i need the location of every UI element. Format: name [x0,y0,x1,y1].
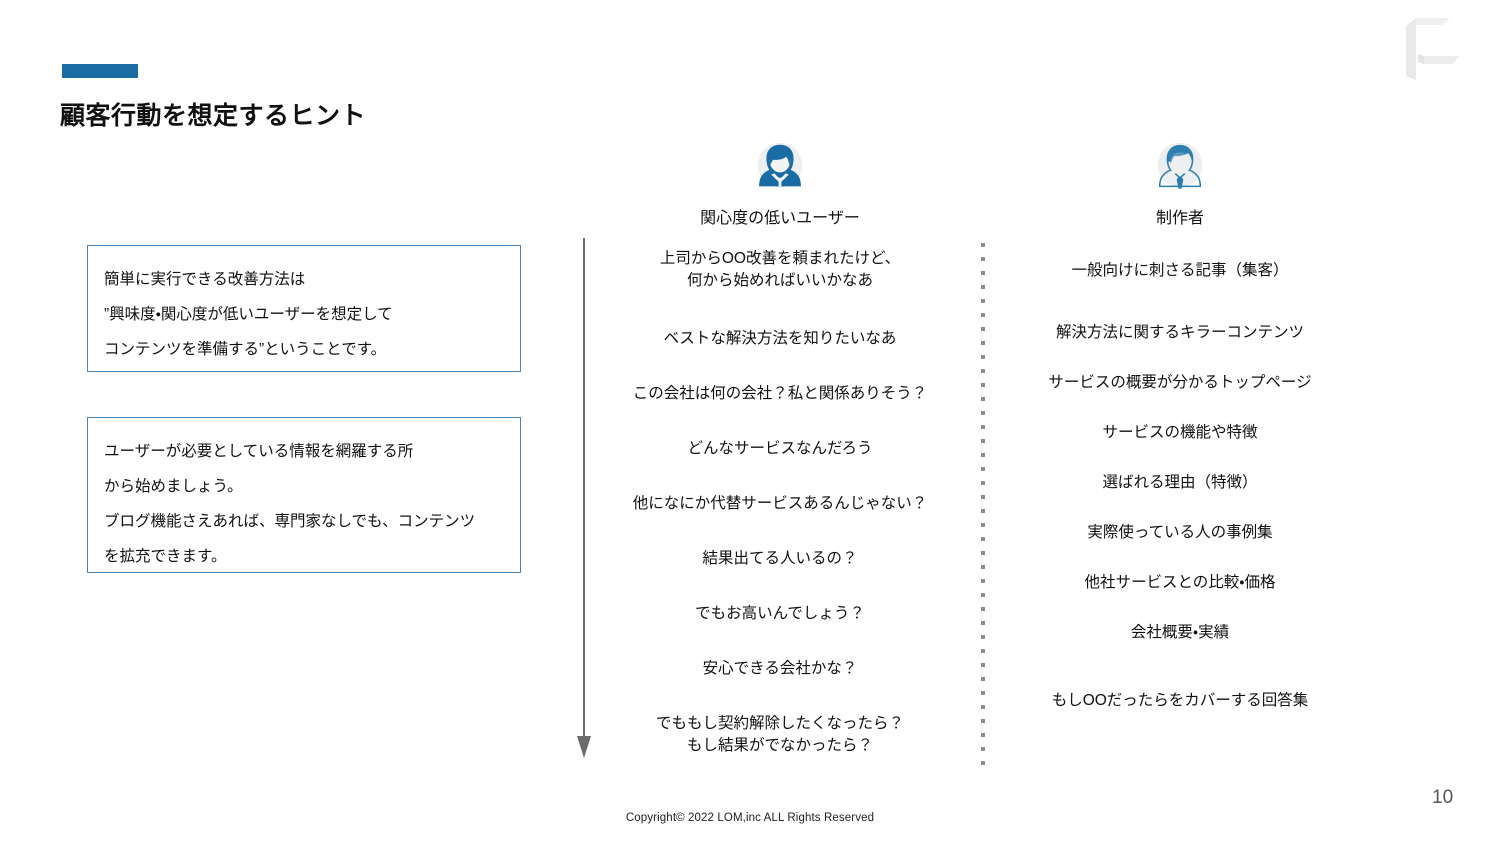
list-item-text: サービスの概要が分かるトップページ [1048,374,1311,391]
list-item: 一般向けに刺さる記事（集客） [1015,258,1345,280]
note-line: ”興味度・関心度が低いユーザーを想定して [104,297,504,332]
page-title: 顧客行動を想定するヒント [60,96,366,132]
list-item: でもお高いんでしょう？ [600,601,960,623]
list-item: サービスの機能や特徴 [1015,420,1345,442]
list-item-subtext: もし結果がでなかったら？ [600,733,960,755]
column-header-creator: 制作者 [1035,136,1325,228]
note-box-content-coverage: ユーザーが必要としている情報を網羅する所 から始めましょう。 ブログ機能さえあれ… [87,417,521,573]
list-item-subtext: 何から始めればいいかなあ [600,268,960,290]
note-box-improvement-method: 簡単に実行できる改善方法は ”興味度・関心度が低いユーザーを想定して コンテンツ… [87,245,521,372]
list-item: サービスの概要が分かるトップページ [1015,370,1345,392]
list-item: 結果出てる人いるの？ [600,546,960,568]
footer-copyright: Copyright© 2022 LOM,inc ALL Rights Reser… [0,812,1500,824]
user-avatar-filled-icon [749,136,811,198]
column-title: 関心度の低いユーザー [620,204,940,228]
list-item-text: 安心できる会社かな？ [703,660,858,677]
note-line: コンテンツを準備する”ということです。 [104,332,504,367]
list-item-text: ベストな解決方法を知りたいなあ [664,330,897,347]
list-item-text: 実際使っている人の事例集 [1087,524,1272,541]
list-item-text: もしOOだったらをカバーする回答集 [1052,692,1309,709]
title-accent-bar [62,64,138,78]
list-item: でももし契約解除したくなったら？ もし結果がでなかったら？ [600,711,960,755]
dotted-divider [981,243,985,771]
list-item: どんなサービスなんだろう [600,436,960,458]
list-item: 上司からOO改善を頼まれたけど、 何から始めればいいかなあ [600,246,960,290]
down-arrow-icon [573,238,595,758]
list-item-text: サービスの機能や特徴 [1102,424,1257,441]
note-line: ブログ機能さえあれば、専門家なしでも、コンテンツ [104,504,504,539]
list-item: 会社概要・実績 [1015,620,1345,642]
list-item-text: でもお高いんでしょう？ [695,605,865,622]
list-item: 安心できる会社かな？ [600,656,960,678]
list-item-text: 上司からOO改善を頼まれたけど、 [660,250,900,267]
list-item-text: 他になにか代替サービスあるんじゃない？ [633,495,928,512]
corner-bracket-decoration [1404,18,1494,80]
slide-canvas: 顧客行動を想定するヒント 簡単に実行できる改善方法は ”興味度・関心度が低いユー… [0,0,1500,844]
note-line: 簡単に実行できる改善方法は [104,262,504,297]
list-item-text: 解決方法に関するキラーコンテンツ [1056,324,1304,341]
note-line: から始めましょう。 [104,469,504,504]
list-item-text: 選ばれる理由（特徴） [1102,474,1257,491]
column-header-low-interest-user: 関心度の低いユーザー [620,136,940,228]
list-item: 解決方法に関するキラーコンテンツ [1015,320,1345,342]
list-item-text: でももし契約解除したくなったら？ [656,715,904,732]
list-item: もしOOだったらをカバーする回答集 [1015,688,1345,710]
page-number: 10 [1432,787,1453,809]
list-item: 実際使っている人の事例集 [1015,520,1345,542]
list-item-text: どんなサービスなんだろう [687,440,872,457]
list-column-creator: 一般向けに刺さる記事（集客） 解決方法に関するキラーコンテンツ サービスの概要が… [1015,258,1345,710]
list-item-text: 会社概要・実績 [1131,624,1229,641]
note-line: ユーザーが必要としている情報を網羅する所 [104,434,504,469]
list-item: 他社サービスとの比較・価格 [1015,570,1345,592]
list-item: 選ばれる理由（特徴） [1015,470,1345,492]
list-item: ベストな解決方法を知りたいなあ [600,326,960,348]
column-title: 制作者 [1035,204,1325,228]
note-line: を拡充できます。 [104,539,504,574]
list-item-text: 結果出てる人いるの？ [702,550,857,567]
creator-avatar-outline-icon [1149,136,1211,198]
list-item: 他になにか代替サービスあるんじゃない？ [600,491,960,513]
list-item-text: 一般向けに刺さる記事（集客） [1071,262,1288,279]
list-column-low-interest-user: 上司からOO改善を頼まれたけど、 何から始めればいいかなあ ベストな解決方法を知… [600,246,960,755]
list-item-text: この会社は何の会社？私と関係ありそう？ [633,385,928,402]
list-item: この会社は何の会社？私と関係ありそう？ [600,381,960,403]
list-item-text: 他社サービスとの比較・価格 [1084,574,1275,591]
